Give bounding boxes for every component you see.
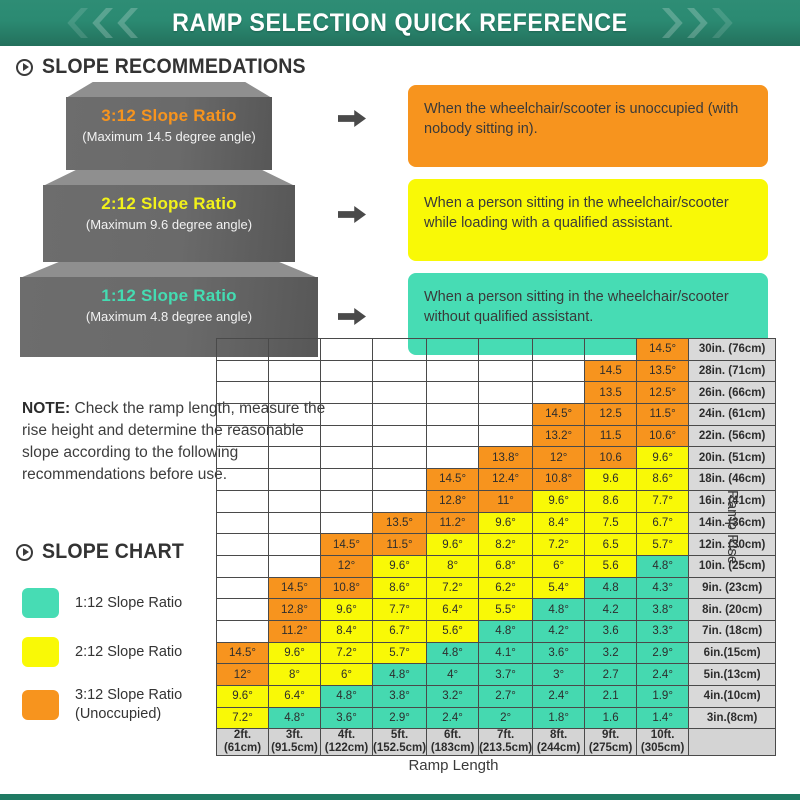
table-cell-empty (427, 382, 479, 404)
table-row: 11.2°8.4°6.7°5.6°4.8°4.2°3.63.3°7in. (18… (217, 620, 776, 642)
table-cell-empty (321, 339, 373, 361)
table-col-header-length: 2ft.(61cm) (217, 729, 269, 756)
table-cell-angle: 1.9° (637, 686, 689, 708)
table-row: 14.5°30in. (76cm) (217, 339, 776, 361)
table-row: 14.5°9.6°7.2°5.7°4.8°4.1°3.6°3.22.9°6in.… (217, 642, 776, 664)
legend-swatch (22, 637, 59, 667)
table-cell-angle: 13.5° (637, 360, 689, 382)
stair-top-surface (20, 262, 318, 278)
table-cell-angle: 12° (321, 555, 373, 577)
table-cell-angle: 7.7° (637, 490, 689, 512)
table-cell-angle: 9.6° (637, 447, 689, 469)
table-cell-empty (373, 447, 427, 469)
table-cell-empty (269, 469, 321, 491)
table-cell-angle: 12.8° (269, 599, 321, 621)
table-cell-angle: 14.5° (427, 469, 479, 491)
table-cell-empty (373, 404, 427, 426)
table-row-header-rise: 4in.(10cm) (689, 686, 776, 708)
table-cell-angle: 4.8 (585, 577, 637, 599)
table-cell-angle: 9.6 (585, 469, 637, 491)
table-row: 14.5°12.4°10.8°9.68.6°18in. (46cm) (217, 469, 776, 491)
table-col-header-length: 8ft.(244cm) (533, 729, 585, 756)
table-cell-angle: 1.6 (585, 707, 637, 729)
table-cell-empty (217, 469, 269, 491)
table-row-header-rise: 24in. (61cm) (689, 404, 776, 426)
table-cell-empty (373, 339, 427, 361)
table-cell-angle: 8.6 (585, 490, 637, 512)
table-col-header-length: 4ft.(122cm) (321, 729, 373, 756)
table-row: 13.512.5°26in. (66cm) (217, 382, 776, 404)
table-cell-angle: 4.2 (585, 599, 637, 621)
table-cell-angle: 6.4° (427, 599, 479, 621)
table-cell-angle: 8.2° (479, 534, 533, 556)
table-row-header-rise: 6in.(15cm) (689, 642, 776, 664)
slope-chart-table-wrap: 14.5°30in. (76cm)14.513.5°28in. (71cm)13… (216, 338, 776, 756)
table-cell-angle: 4.8° (373, 664, 427, 686)
table-row-header-rise: 8in. (20cm) (689, 599, 776, 621)
table-cell-empty (321, 447, 373, 469)
table-cell-angle: 2° (479, 707, 533, 729)
table-cell-empty (217, 425, 269, 447)
section-title: SLOPE CHART (42, 540, 184, 564)
table-cell-angle: 3.2° (427, 686, 479, 708)
table-cell-angle: 12° (533, 447, 585, 469)
table-cell-angle: 1.4° (637, 707, 689, 729)
table-cell-angle: 3.6° (321, 707, 373, 729)
table-cell-angle: 10.8° (321, 577, 373, 599)
table-cell-empty (269, 555, 321, 577)
legend-item: 2:12 Slope Ratio (22, 637, 182, 667)
table-cell-angle: 8.4° (321, 620, 373, 642)
play-circle-icon (16, 544, 33, 561)
section-heading-slope-recommendations: SLOPE RECOMMEDATIONS (16, 55, 326, 79)
table-cell-angle: 4.8° (637, 555, 689, 577)
table-cell-angle: 7.2° (427, 577, 479, 599)
table-cell-angle: 5.4° (533, 577, 585, 599)
table-cell-angle: 4.1° (479, 642, 533, 664)
table-cell-angle: 2.4° (427, 707, 479, 729)
table-row-header-rise: 3in.(8cm) (689, 707, 776, 729)
table-cell-angle: 8.6° (373, 577, 427, 599)
table-cell-angle: 13.5° (373, 512, 427, 534)
table-cell-angle: 3° (533, 664, 585, 686)
arrow-right-icon (338, 308, 366, 325)
table-col-header-length: 9ft.(275cm) (585, 729, 637, 756)
table-cell-empty (269, 447, 321, 469)
slope-chart-table: 14.5°30in. (76cm)14.513.5°28in. (71cm)13… (216, 338, 776, 756)
table-cell-angle: 13.5 (585, 382, 637, 404)
note-label: NOTE: (22, 400, 70, 417)
table-cell-empty (373, 490, 427, 512)
table-cell-empty (373, 382, 427, 404)
table-row-header-rise: 26in. (66cm) (689, 382, 776, 404)
chevron-right-icon (662, 8, 684, 38)
table-cell-empty (217, 490, 269, 512)
legend-item: 1:12 Slope Ratio (22, 588, 182, 618)
table-cell-empty (217, 447, 269, 469)
table-cell-empty (217, 404, 269, 426)
table-cell-angle: 10.8° (533, 469, 585, 491)
table-cell-angle: 8.4° (533, 512, 585, 534)
section-heading-slope-chart: SLOPE CHART (16, 540, 195, 564)
table-cell-angle: 13.2° (533, 425, 585, 447)
table-cell-empty (373, 469, 427, 491)
table-row: 14.5°11.5°9.6°8.2°7.2°6.55.7°12in. (30cm… (217, 534, 776, 556)
table-cell-angle: 3.2 (585, 642, 637, 664)
stair-ratio-label: 1:12 Slope Ratio (101, 286, 236, 306)
table-cell-angle: 8° (269, 664, 321, 686)
table-cell-angle: 2.7° (479, 686, 533, 708)
table-cell-empty (321, 425, 373, 447)
stair-face: 3:12 Slope Ratio (Maximum 14.5 degree an… (66, 97, 272, 170)
slope-stairs-graphic: 3:12 Slope Ratio (Maximum 14.5 degree an… (20, 82, 340, 357)
table-col-header-length: 5ft.(152.5cm) (373, 729, 427, 756)
table-cell-empty (217, 555, 269, 577)
table-col-header-length: 7ft.(213.5cm) (479, 729, 533, 756)
table-cell-angle: 9.6° (479, 512, 533, 534)
table-cell-empty (217, 577, 269, 599)
table-row-header-rise: 30in. (76cm) (689, 339, 776, 361)
stair-angle-label: (Maximum 4.8 degree angle) (86, 309, 252, 324)
table-cell-angle: 3.8° (637, 599, 689, 621)
table-cell-angle: 9.6° (427, 534, 479, 556)
table-row-header-rise: 22in. (56cm) (689, 425, 776, 447)
table-cell-angle: 3.6° (533, 642, 585, 664)
table-cell-empty (533, 382, 585, 404)
chevron-right-icon (712, 8, 734, 38)
table-col-header-length: 6ft.(183cm) (427, 729, 479, 756)
callout-assisted: When a person sitting in the wheelchair/… (408, 179, 768, 261)
table-cell-angle: 6.8° (479, 555, 533, 577)
table-cell-angle: 2.7 (585, 664, 637, 686)
play-circle-icon (16, 59, 33, 76)
table-row: 14.5°12.511.5°24in. (61cm) (217, 404, 776, 426)
table-row-header-rise: 9in. (23cm) (689, 577, 776, 599)
table-cell-angle: 5.6 (585, 555, 637, 577)
table-cell-angle: 4.2° (533, 620, 585, 642)
stair-top-surface (43, 170, 295, 186)
table-cell-empty (427, 447, 479, 469)
table-cell-angle: 6.4° (269, 686, 321, 708)
table-cell-angle: 6.2° (479, 577, 533, 599)
table-cell-angle: 4.8° (427, 642, 479, 664)
page-header: RAMP SELECTION QUICK REFERENCE (0, 0, 800, 46)
stair-face: 2:12 Slope Ratio (Maximum 9.6 degree ang… (43, 185, 295, 262)
table-cell-angle: 4.8° (533, 599, 585, 621)
table-cell-empty (321, 512, 373, 534)
table-corner-cell (689, 729, 776, 756)
table-cell-angle: 9.6° (321, 599, 373, 621)
table-row: 12.8°9.6°7.7°6.4°5.5°4.8°4.23.8°8in. (20… (217, 599, 776, 621)
table-cell-empty (321, 490, 373, 512)
chevron-left-icon (66, 8, 88, 38)
header-left-chevrons (66, 0, 138, 46)
table-cell-angle: 7.2° (533, 534, 585, 556)
table-cell-empty (321, 382, 373, 404)
legend-swatch (22, 588, 59, 618)
table-cell-angle: 12.4° (479, 469, 533, 491)
table-cell-empty (269, 490, 321, 512)
table-cell-angle: 12.5 (585, 404, 637, 426)
table-cell-angle: 6.7° (637, 512, 689, 534)
table-cell-angle: 2.4° (637, 664, 689, 686)
table-cell-empty (479, 425, 533, 447)
table-cell-angle: 3.6 (585, 620, 637, 642)
table-cell-angle: 12° (217, 664, 269, 686)
table-col-header-length: 10ft.(305cm) (637, 729, 689, 756)
table-cell-empty (373, 360, 427, 382)
table-cell-angle: 11.5 (585, 425, 637, 447)
table-cell-angle: 9.6° (269, 642, 321, 664)
table-cell-angle: 2.9° (373, 707, 427, 729)
table-cell-empty (479, 339, 533, 361)
table-header-row: 2ft.(61cm)3ft.(91.5cm)4ft.(122cm)5ft.(15… (217, 729, 776, 756)
table-cell-empty (585, 339, 637, 361)
table-cell-angle: 2.4° (533, 686, 585, 708)
table-cell-angle: 7.2° (321, 642, 373, 664)
table-cell-empty (269, 404, 321, 426)
table-cell-empty (427, 360, 479, 382)
header-right-chevrons (662, 0, 734, 46)
table-cell-empty (321, 360, 373, 382)
table-cell-angle: 11.5° (637, 404, 689, 426)
table-cell-angle: 6.5 (585, 534, 637, 556)
table-cell-angle: 14.5° (637, 339, 689, 361)
table-cell-empty (479, 360, 533, 382)
arrow-right-icon (338, 206, 366, 223)
table-cell-angle: 9.6° (533, 490, 585, 512)
table-cell-empty (373, 425, 427, 447)
table-col-header-length: 3ft.(91.5cm) (269, 729, 321, 756)
table-cell-angle: 7.5 (585, 512, 637, 534)
table-row-header-rise: 7in. (18cm) (689, 620, 776, 642)
table-cell-angle: 4.8° (321, 686, 373, 708)
chart-legend: 1:12 Slope Ratio2:12 Slope Ratio3:12 Slo… (22, 588, 182, 742)
table-row: 13.5°11.2°9.6°8.4°7.56.7°14in. (36cm) (217, 512, 776, 534)
table-row: 13.2°11.510.6°22in. (56cm) (217, 425, 776, 447)
legend-label: 2:12 Slope Ratio (75, 643, 182, 662)
chevron-right-icon (687, 8, 709, 38)
stair-step-3-12: 3:12 Slope Ratio (Maximum 14.5 degree an… (66, 82, 272, 170)
table-cell-empty (321, 469, 373, 491)
table-cell-angle: 13.8° (479, 447, 533, 469)
chevron-left-icon (116, 8, 138, 38)
table-cell-angle: 3.8° (373, 686, 427, 708)
table-cell-angle: 11° (479, 490, 533, 512)
table-cell-empty (217, 382, 269, 404)
infographic-page: RAMP SELECTION QUICK REFERENCE SLOPE REC… (0, 0, 800, 800)
table-row: 12°8°6°4.8°4°3.7°3°2.72.4°5in.(13cm) (217, 664, 776, 686)
table-cell-angle: 6.7° (373, 620, 427, 642)
table-row: 13.8°12°10.69.6°20in. (51cm) (217, 447, 776, 469)
table-cell-empty (321, 404, 373, 426)
stair-angle-label: (Maximum 14.5 degree angle) (82, 129, 255, 144)
table-cell-empty (427, 425, 479, 447)
table-cell-angle: 14.5° (217, 642, 269, 664)
table-cell-angle: 12.8° (427, 490, 479, 512)
stair-step-2-12: 2:12 Slope Ratio (Maximum 9.6 degree ang… (43, 170, 295, 262)
table-cell-empty (479, 404, 533, 426)
table-cell-angle: 14.5 (585, 360, 637, 382)
table-cell-angle: 4.8° (479, 620, 533, 642)
table-cell-angle: 10.6 (585, 447, 637, 469)
legend-item: 3:12 Slope Ratio(Unoccupied) (22, 686, 182, 723)
table-cell-angle: 1.8° (533, 707, 585, 729)
table-row-header-rise: 18in. (46cm) (689, 469, 776, 491)
callout-unoccupied: When the wheelchair/scooter is unoccupie… (408, 85, 768, 167)
table-cell-empty (217, 599, 269, 621)
table-cell-angle: 4.8° (269, 707, 321, 729)
stair-top-surface (66, 82, 272, 98)
axis-label-ramp-length: Ramp Length (216, 757, 691, 774)
table-row: 14.5°10.8°8.6°7.2°6.2°5.4°4.84.3°9in. (2… (217, 577, 776, 599)
table-cell-empty (217, 360, 269, 382)
table-cell-empty (479, 382, 533, 404)
table-cell-empty (269, 360, 321, 382)
table-row-header-rise: 20in. (51cm) (689, 447, 776, 469)
table-cell-angle: 11.5° (373, 534, 427, 556)
table-cell-angle: 5.5° (479, 599, 533, 621)
table-cell-empty (533, 339, 585, 361)
table-cell-angle: 14.5° (269, 577, 321, 599)
table-row: 14.513.5°28in. (71cm) (217, 360, 776, 382)
table-cell-empty (217, 339, 269, 361)
table-cell-angle: 2.9° (637, 642, 689, 664)
table-cell-angle: 14.5° (533, 404, 585, 426)
table-cell-angle: 11.2° (269, 620, 321, 642)
table-cell-angle: 14.5° (321, 534, 373, 556)
table-cell-angle: 7.7° (373, 599, 427, 621)
table-cell-angle: 5.6° (427, 620, 479, 642)
table-cell-empty (217, 620, 269, 642)
table-cell-empty (533, 360, 585, 382)
table-cell-angle: 7.2° (217, 707, 269, 729)
arrow-right-icon (338, 110, 366, 127)
table-cell-angle: 5.7° (637, 534, 689, 556)
table-cell-angle: 12.5° (637, 382, 689, 404)
table-cell-angle: 10.6° (637, 425, 689, 447)
stair-ratio-label: 2:12 Slope Ratio (101, 194, 236, 214)
table-row-header-rise: 28in. (71cm) (689, 360, 776, 382)
table-cell-angle: 4° (427, 664, 479, 686)
table-row: 12°9.6°8°6.8°6°5.64.8°10in. (25cm) (217, 555, 776, 577)
legend-label: 1:12 Slope Ratio (75, 594, 182, 613)
table-cell-empty (427, 404, 479, 426)
table-row-header-rise: 5in.(13cm) (689, 664, 776, 686)
stair-ratio-label: 3:12 Slope Ratio (101, 106, 236, 126)
legend-label: 3:12 Slope Ratio(Unoccupied) (75, 686, 182, 723)
table-cell-angle: 2.1 (585, 686, 637, 708)
table-cell-empty (269, 339, 321, 361)
table-cell-angle: 5.7° (373, 642, 427, 664)
table-cell-angle: 9.6° (217, 686, 269, 708)
table-row: 9.6°6.4°4.8°3.8°3.2°2.7°2.4°2.11.9°4in.(… (217, 686, 776, 708)
table-cell-angle: 9.6° (373, 555, 427, 577)
chevron-left-icon (91, 8, 113, 38)
section-title: SLOPE RECOMMEDATIONS (42, 55, 306, 79)
table-cell-angle: 8° (427, 555, 479, 577)
table-cell-angle: 6° (321, 664, 373, 686)
table-cell-angle: 8.6° (637, 469, 689, 491)
page-title: RAMP SELECTION QUICK REFERENCE (172, 9, 628, 38)
table-cell-empty (269, 534, 321, 556)
table-cell-empty (427, 339, 479, 361)
table-cell-empty (269, 512, 321, 534)
table-cell-empty (217, 534, 269, 556)
legend-swatch (22, 690, 59, 720)
table-cell-empty (269, 382, 321, 404)
table-cell-empty (269, 425, 321, 447)
axis-label-ramp-rise: Ramp Rise (724, 490, 741, 564)
table-cell-angle: 3.7° (479, 664, 533, 686)
table-row: 12.8°11°9.6°8.67.7°16in. (41cm) (217, 490, 776, 512)
table-cell-angle: 4.3° (637, 577, 689, 599)
table-cell-empty (217, 512, 269, 534)
table-row: 7.2°4.8°3.6°2.9°2.4°2°1.8°1.61.4°3in.(8c… (217, 707, 776, 729)
table-cell-angle: 6° (533, 555, 585, 577)
table-cell-angle: 3.3° (637, 620, 689, 642)
table-cell-angle: 11.2° (427, 512, 479, 534)
stair-angle-label: (Maximum 9.6 degree angle) (86, 217, 252, 232)
